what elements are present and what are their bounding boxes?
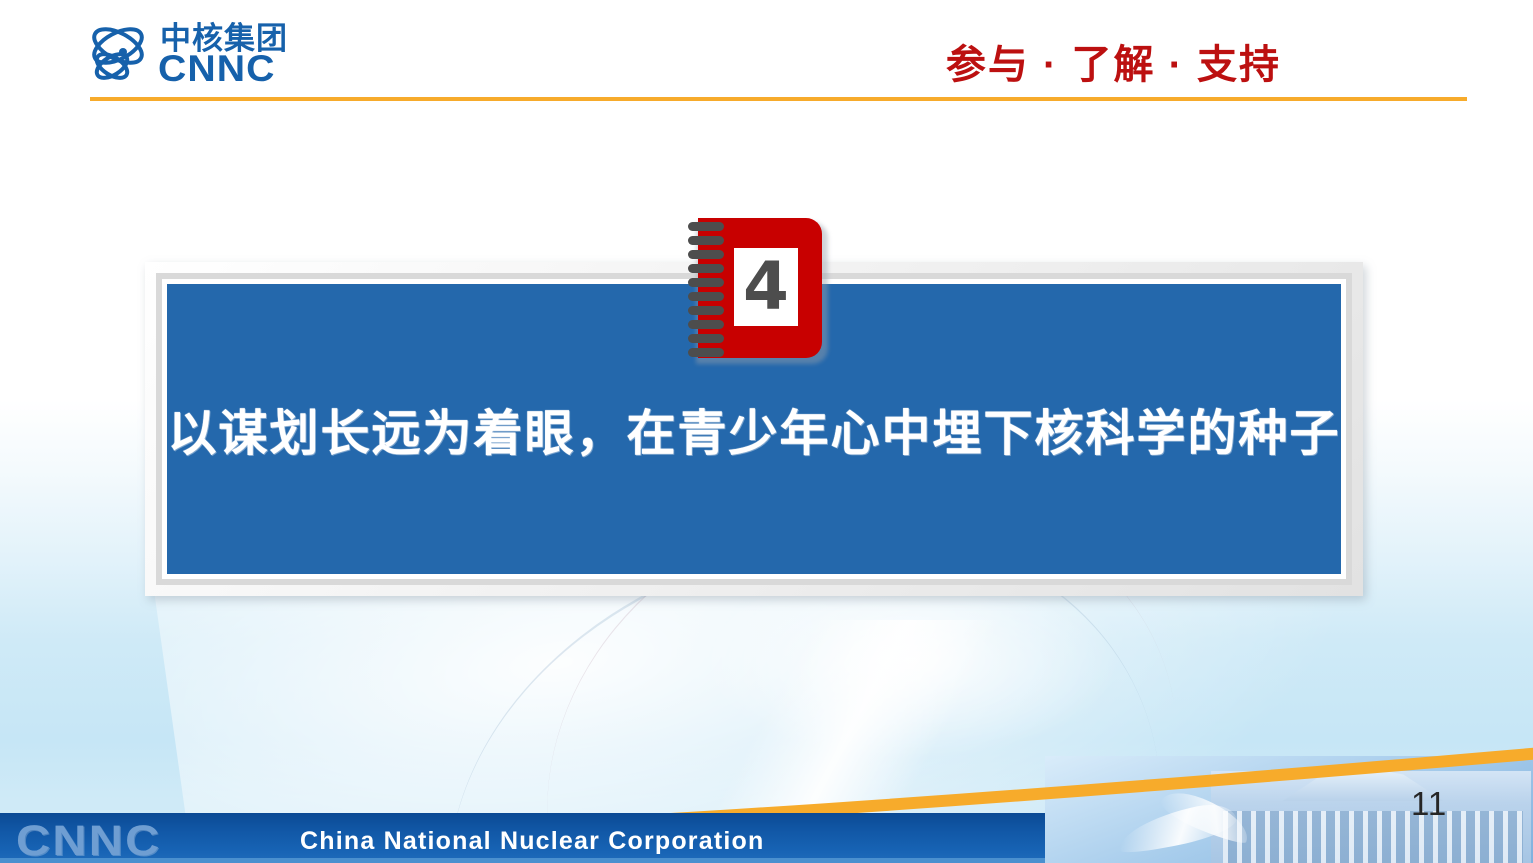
footer-brand-full: China National Nuclear Corporation [300,827,764,856]
footer-brand-bar: CNNC China National Nuclear Corporation [0,813,1045,863]
section-title: 以谋划长远为着眼，在青少年心中埋下核科学的种子 [167,394,1341,465]
logo-english-name: CNNC [158,50,276,88]
brand-logo: 中核集团 CNNC [88,22,388,88]
header-divider-line [90,97,1467,101]
slide-canvas: 中核集团 CNNC 参与 · 了解 · 支持 以谋划长远为着眼，在青少年心中埋下… [0,0,1533,863]
footer-brand-short: CNNC [16,817,161,863]
header-slogan: 参与 · 了解 · 支持 [946,32,1281,90]
section-number: 4 [734,248,798,326]
page-number: 11 [1411,785,1447,823]
section-number-badge: 4 [688,216,828,362]
cnnc-atom-logo-icon [88,24,154,86]
notebook-spiral-rings-icon [688,222,728,356]
footer-bar-underline [0,858,1045,863]
